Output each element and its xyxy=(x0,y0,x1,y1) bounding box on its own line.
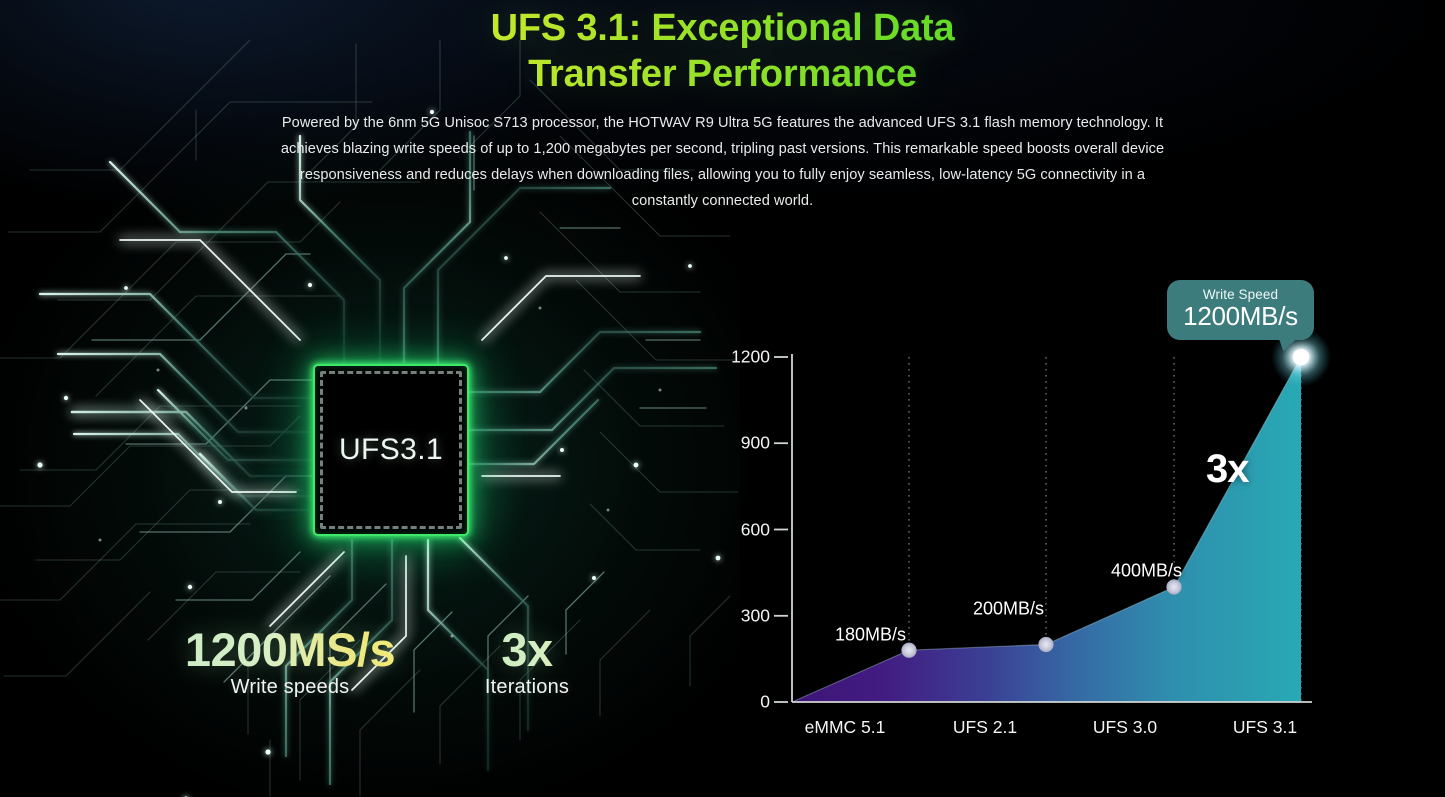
write-speed-chart: 0 300 600 900 1200 eMMC 5.1 UFS 2.1 UFS … xyxy=(712,262,1352,762)
chart-multiplier-annotation: 3x xyxy=(1206,447,1249,492)
chart-y-axis-labels: 0 300 600 900 1200 xyxy=(712,262,770,762)
y-tick-0: 0 xyxy=(760,692,770,713)
stat-iterations: 3x Iterations xyxy=(432,625,622,699)
x-tick-ufs-2-1: UFS 2.1 xyxy=(953,717,1017,738)
y-tick-1200: 1200 xyxy=(731,347,770,368)
x-tick-ufs-3-0: UFS 3.0 xyxy=(1093,717,1157,738)
y-tick-600: 600 xyxy=(741,519,770,540)
stat-write-speed-value: 1200MS/s xyxy=(150,625,430,674)
chip-label: UFS3.1 xyxy=(339,433,443,467)
data-label-ufs-2-1: 200MB/s xyxy=(973,599,1044,620)
tooltip-value: 1200MB/s xyxy=(1177,302,1304,331)
y-tick-300: 300 xyxy=(741,605,770,626)
chart-y-ticks xyxy=(774,357,788,702)
x-tick-emmc-5-1: eMMC 5.1 xyxy=(805,717,886,738)
page-title: UFS 3.1: Exceptional Data Transfer Perfo… xyxy=(0,0,1445,98)
tooltip-title: Write Speed xyxy=(1177,287,1304,302)
page-title-line1: UFS 3.1: Exceptional Data xyxy=(491,7,955,49)
page-description: Powered by the 6nm 5G Unisoc S713 proces… xyxy=(270,111,1175,215)
ufs-chip: UFS3.1 xyxy=(313,364,469,536)
stat-write-speed-caption: Write speeds xyxy=(150,676,430,699)
chart-x-axis-labels: eMMC 5.1 UFS 2.1 UFS 3.0 UFS 3.1 xyxy=(712,717,1352,753)
header: UFS 3.1: Exceptional Data Transfer Perfo… xyxy=(0,0,1445,215)
data-label-ufs-3-0: 400MB/s xyxy=(1111,561,1182,582)
stats-row: 1200MS/s Write speeds 3x Iterations xyxy=(0,625,740,755)
stat-iterations-value: 3x xyxy=(432,625,622,674)
data-label-emmc-5-1: 180MB/s xyxy=(835,625,906,646)
x-tick-ufs-3-1: UFS 3.1 xyxy=(1233,717,1297,738)
write-speed-tooltip: Write Speed 1200MB/s xyxy=(1167,280,1314,340)
stat-iterations-caption: Iterations xyxy=(432,676,622,699)
page-title-line2: Transfer Performance xyxy=(0,52,1445,98)
y-tick-900: 900 xyxy=(741,433,770,454)
stat-write-speed: 1200MS/s Write speeds xyxy=(150,625,430,699)
